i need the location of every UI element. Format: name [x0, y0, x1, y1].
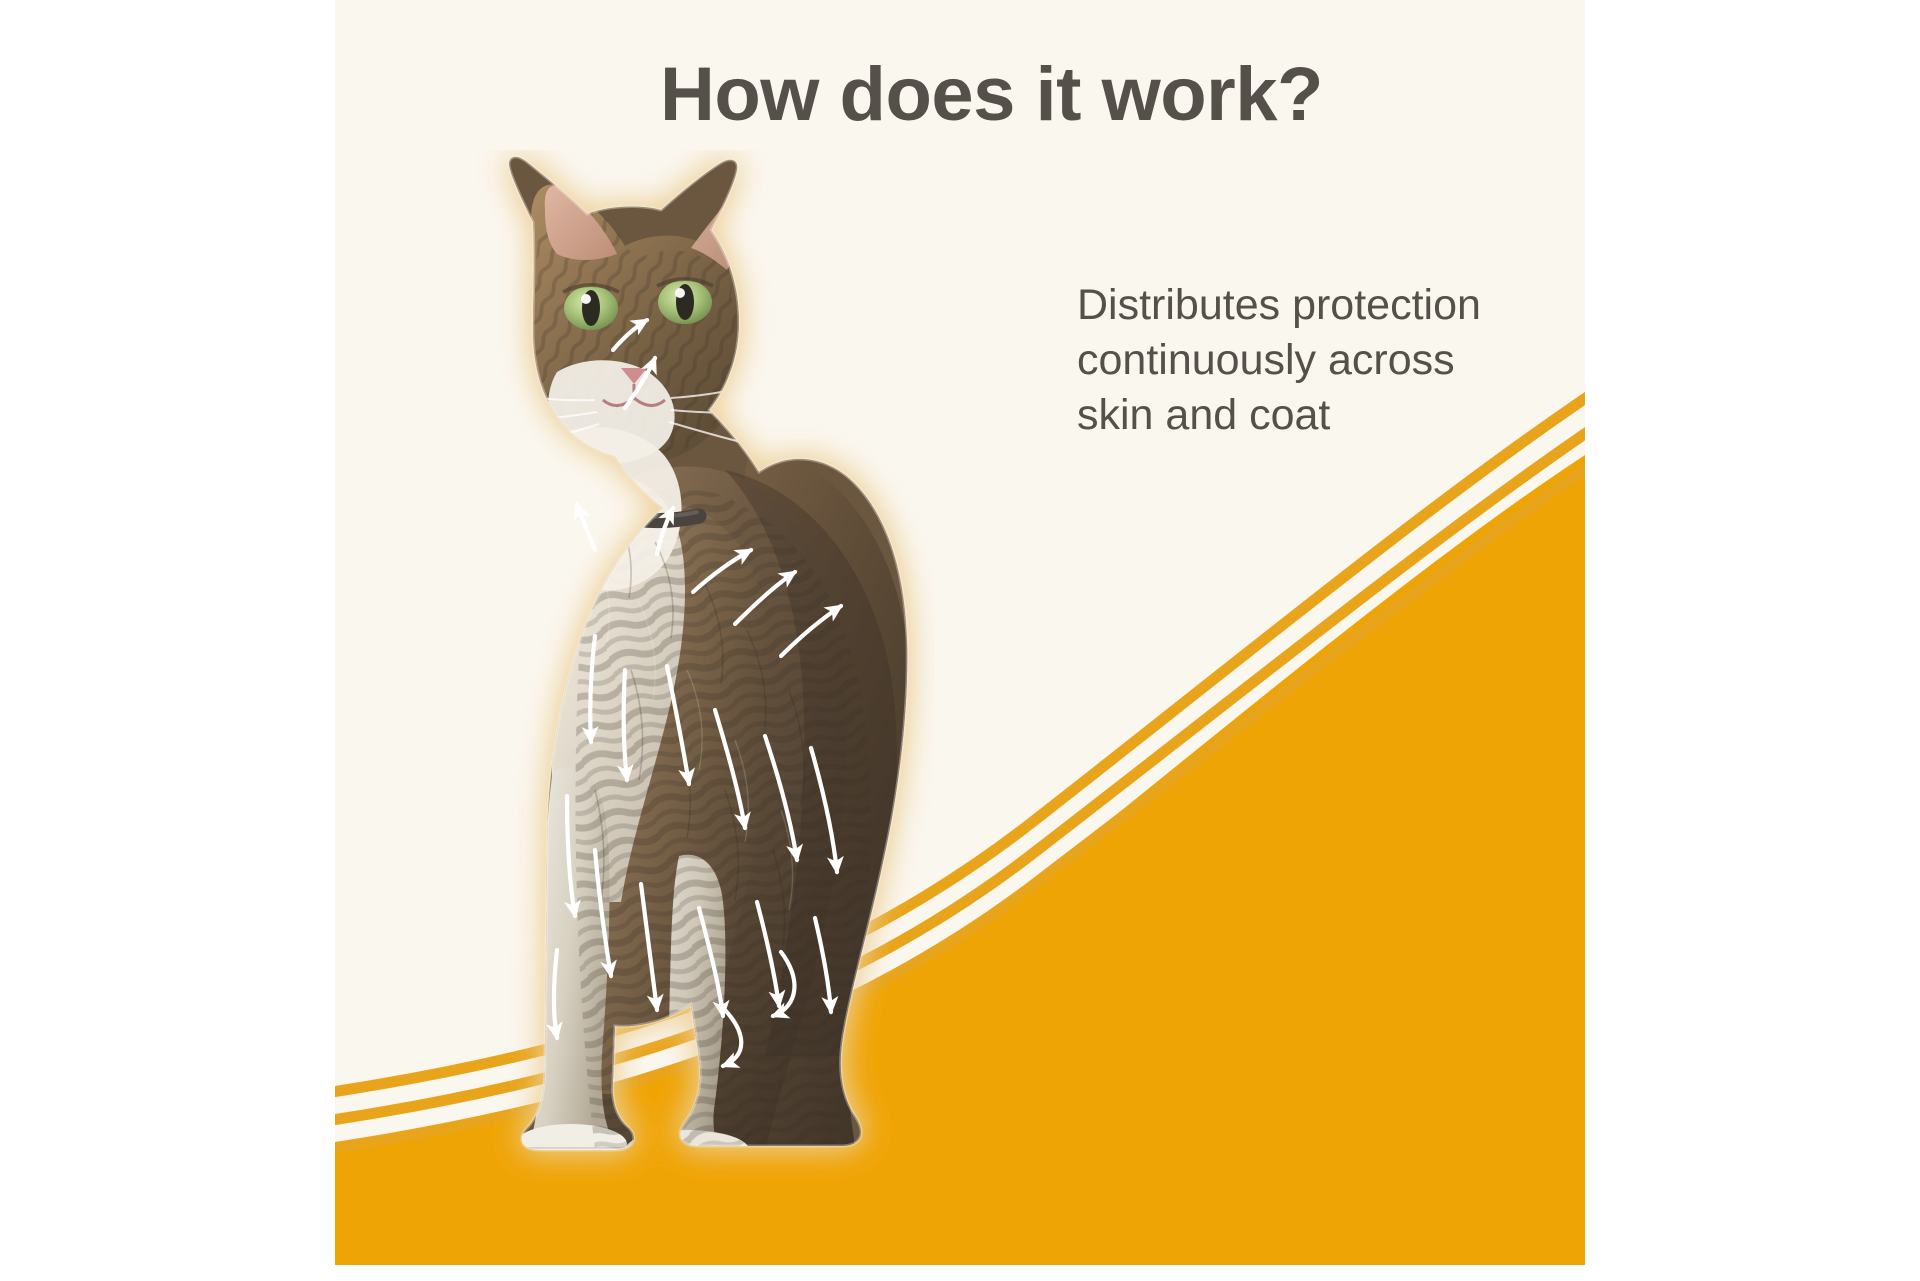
infographic-page: How does it work? Distributes protection… — [0, 0, 1920, 1281]
cat-body — [475, 150, 935, 1265]
body-copy-line-1: Distributes protection — [1077, 278, 1585, 333]
cat-photo-composite — [335, 150, 935, 1265]
arrow-neck-up — [577, 504, 595, 550]
left-margin — [0, 0, 335, 1281]
body-copy: Distributes protection continuously acro… — [1077, 278, 1585, 443]
right-margin — [1585, 0, 1920, 1281]
cat-illustration — [335, 150, 935, 1265]
body-copy-line-2: continuously across — [1077, 333, 1585, 388]
bottom-margin — [0, 1265, 1920, 1281]
creative-canvas: How does it work? Distributes protection… — [335, 0, 1585, 1265]
page-title: How does it work? — [660, 55, 1323, 135]
body-copy-line-3: skin and coat — [1077, 388, 1585, 443]
